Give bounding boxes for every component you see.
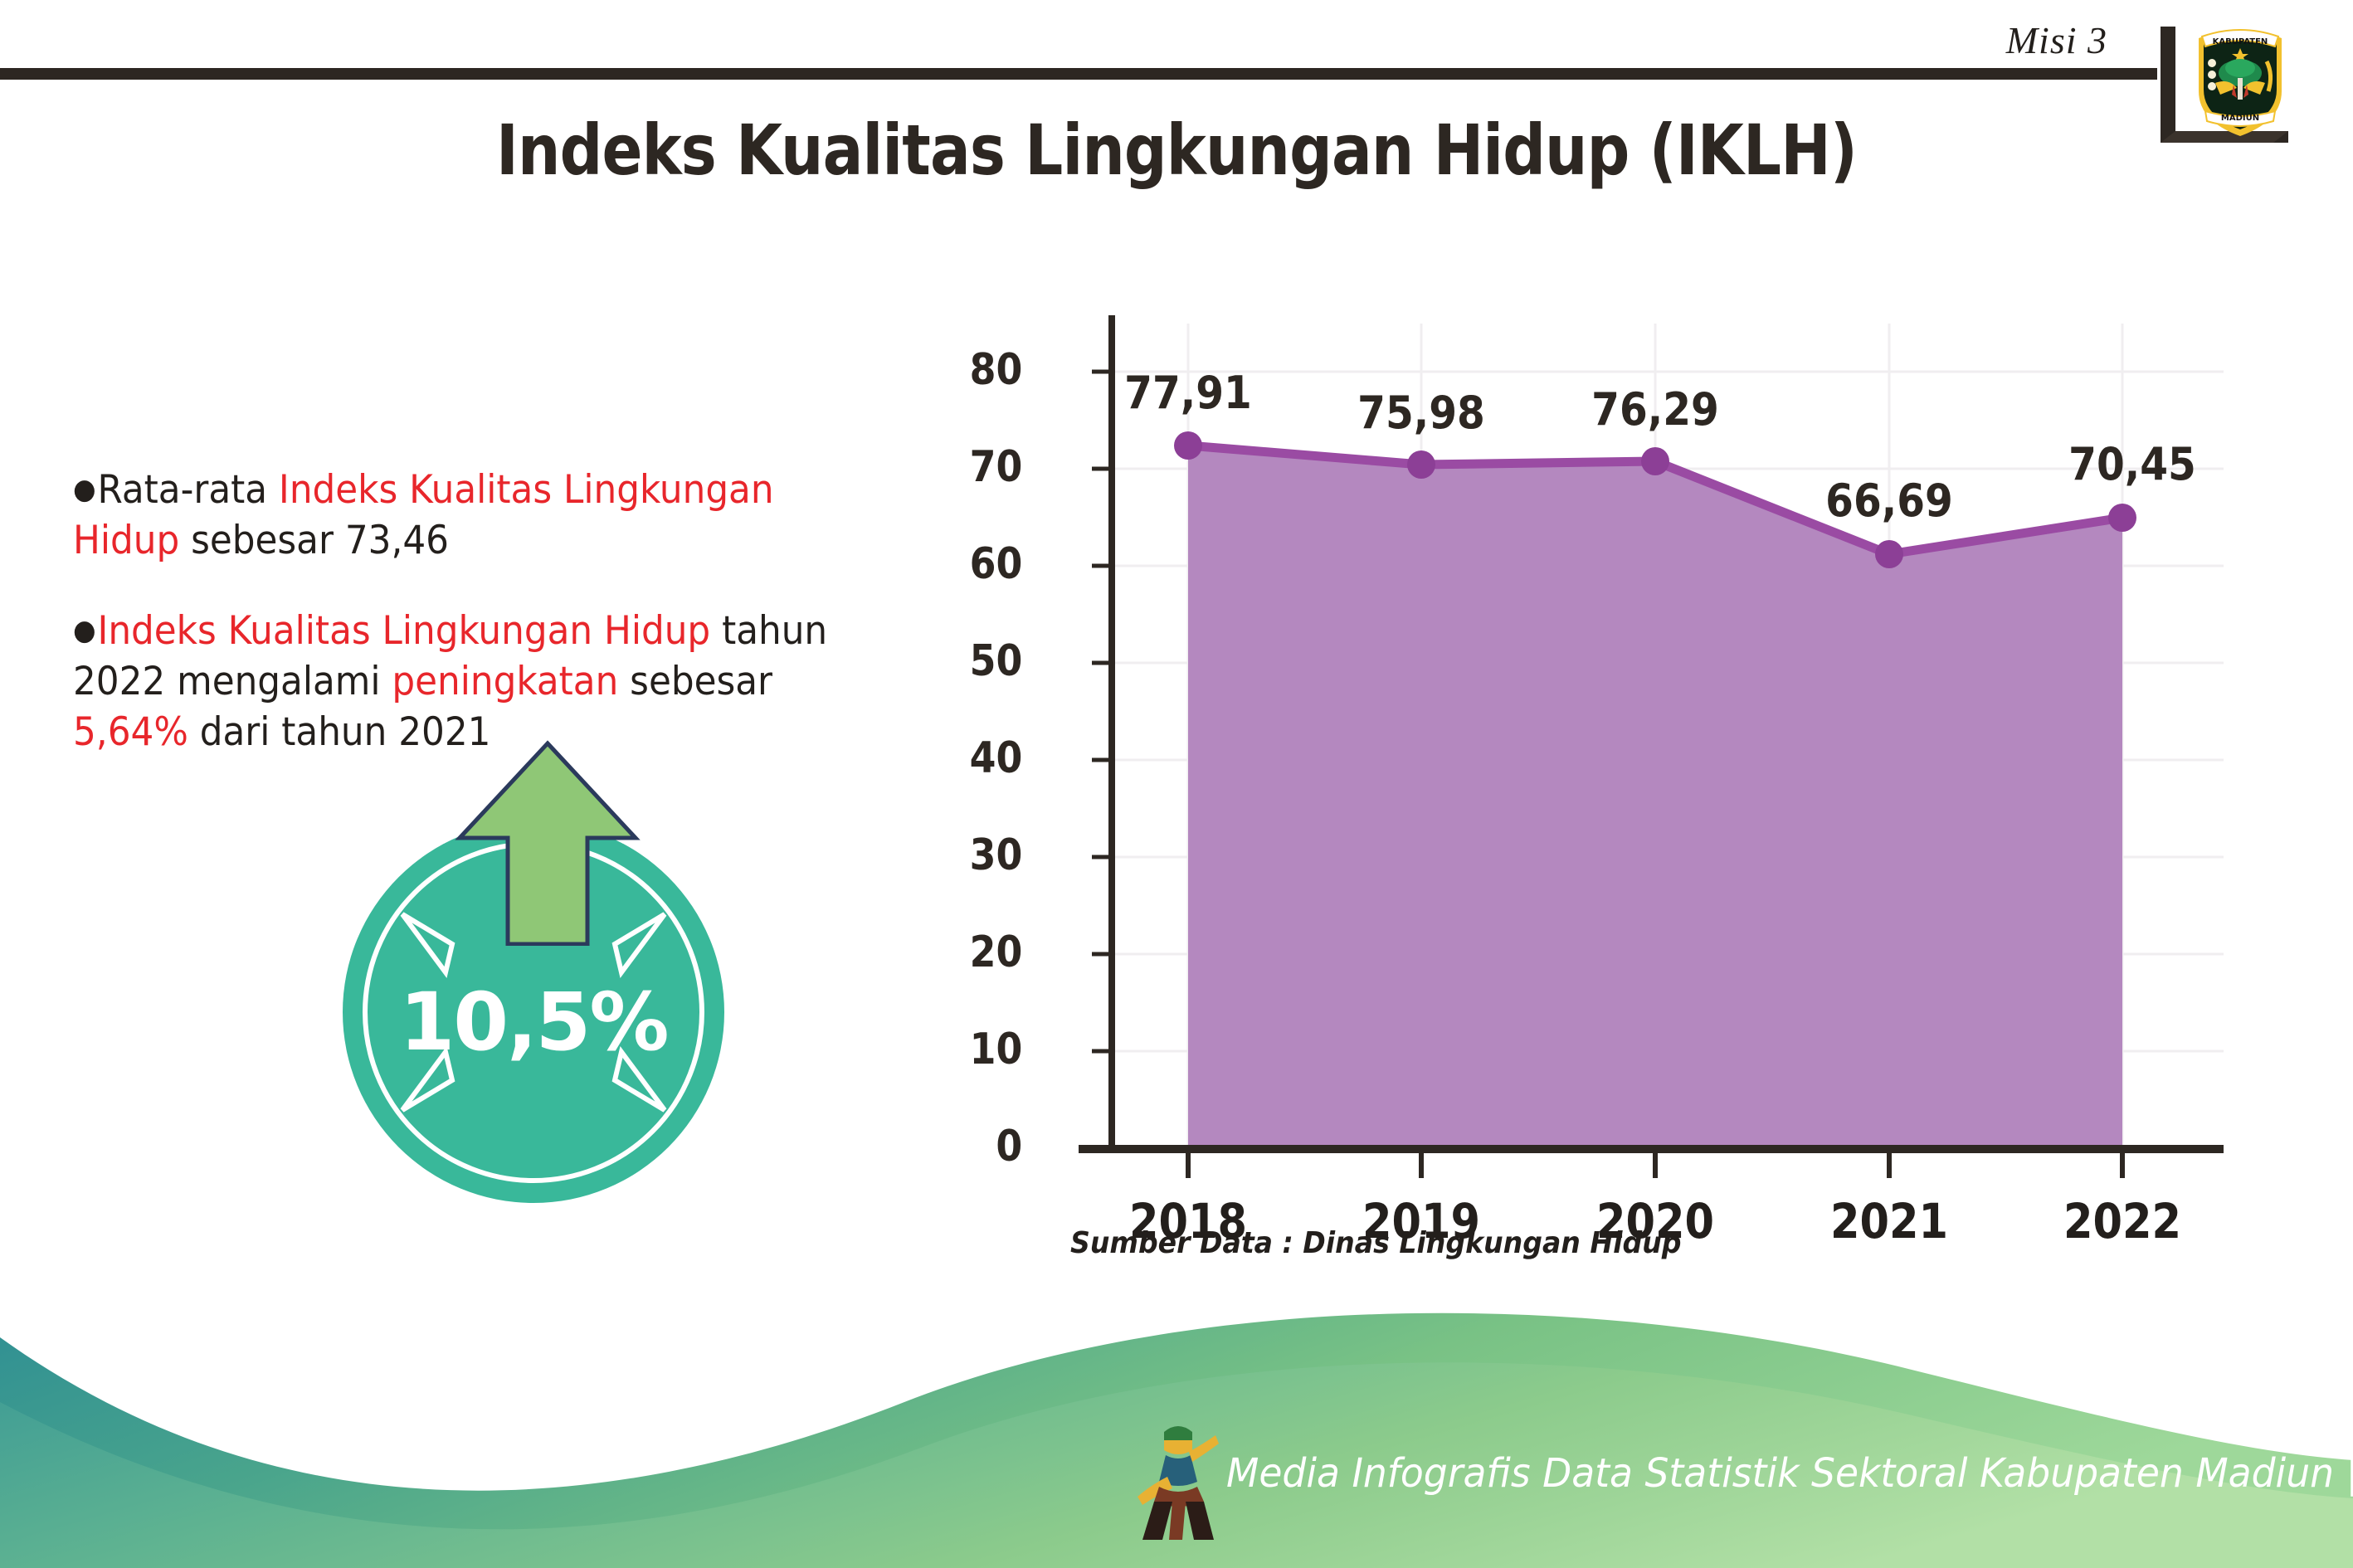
data-value-label: 77,91 [1091, 367, 1285, 419]
iklh-area-chart: 80 70 60 50 40 30 20 10 0 2018 2019 2020… [979, 299, 2224, 1228]
bullet1-part2: sebesar 73,46 [179, 518, 449, 563]
y-tick-label: 30 [969, 830, 1022, 880]
bullet2-part2: sebesar [618, 659, 772, 704]
y-tick-label: 80 [969, 345, 1022, 395]
x-tick-label: 2021 [1787, 1193, 1991, 1249]
data-point [1174, 431, 1202, 460]
y-tick-label: 40 [969, 733, 1022, 783]
area-fill [1188, 446, 2122, 1149]
data-point [1407, 450, 1435, 479]
data-value-label: 75,98 [1324, 387, 1518, 439]
kabupaten-madiun-crest-icon: KABUPATEN MADIUN [2190, 15, 2290, 139]
data-value-label: 70,45 [2035, 438, 2229, 490]
misi-label: Misi 3 [2006, 18, 2107, 62]
data-value-label: 66,69 [1792, 475, 1986, 527]
svg-text:KABUPATEN: KABUPATEN [2213, 37, 2268, 46]
badge-value-label: 10,5% [343, 976, 724, 1069]
y-tick-label: 70 [969, 442, 1022, 492]
bullet2-highlight1: Indeks Kualitas Lingkungan Hidup [97, 608, 710, 654]
x-tick-label: 2022 [2020, 1193, 2224, 1249]
summary-bullet-2: ●Indeks Kualitas Lingkungan Hidup tahun … [73, 606, 891, 757]
data-value-label: 76,29 [1558, 383, 1752, 436]
bullet2-highlight2: peningkatan [392, 659, 618, 704]
data-point [1641, 447, 1669, 475]
growth-badge: 10,5% [332, 738, 763, 1203]
summary-bullet-1: ●Rata-rata Indeks Kualitas Lingkungan Hi… [73, 465, 891, 566]
y-tick-label: 60 [969, 539, 1022, 589]
bullet1-part1: Rata-rata [97, 467, 278, 513]
y-tick-label: 0 [996, 1122, 1022, 1171]
pencak-silat-figure-icon [1133, 1419, 1224, 1543]
header-rule [0, 68, 2157, 80]
page-title: Indeks Kualitas Lingkungan Hidup (IKLH) [165, 110, 2189, 191]
bullet-dot-icon: ● [73, 614, 96, 647]
bullet-dot-icon: ● [73, 473, 96, 506]
y-tick-label: 50 [969, 636, 1022, 686]
y-tick-label: 20 [969, 928, 1022, 977]
chart-source-note: Sumber Data : Dinas Lingkungan Hidup [1070, 1226, 1681, 1260]
y-tick-label: 10 [969, 1025, 1022, 1074]
footer-caption: Media Infografis Data Statistik Sektoral… [1226, 1450, 2353, 1497]
svg-text:MADIUN: MADIUN [2221, 114, 2259, 123]
data-point [2108, 504, 2136, 532]
data-point [1875, 540, 1903, 568]
bullet2-highlight3: 5,64% [73, 709, 188, 755]
